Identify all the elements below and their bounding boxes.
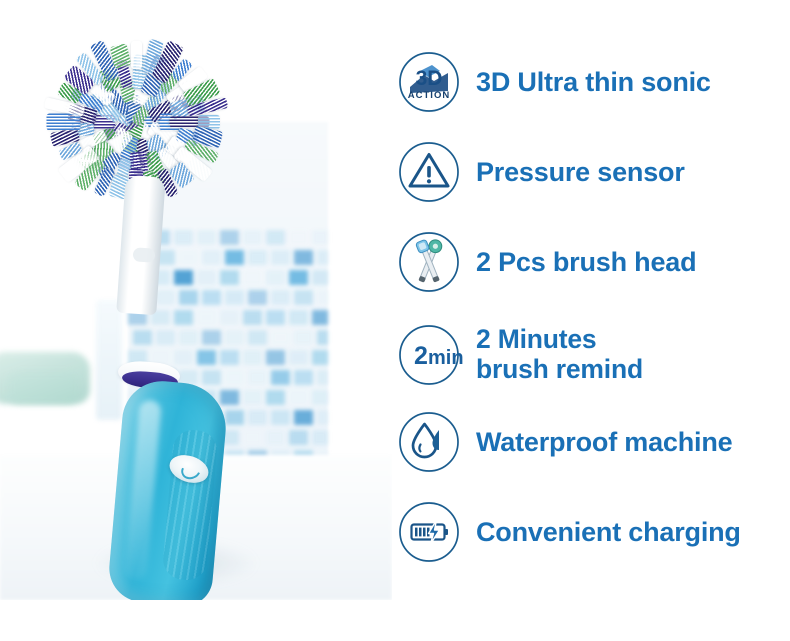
- mosaic-tile: [317, 330, 328, 345]
- mosaic-tile: [294, 370, 313, 385]
- mosaic-tile: [225, 410, 244, 425]
- mosaic-tile: [294, 250, 313, 265]
- mosaic-tile: [133, 330, 152, 345]
- feature-label: Convenient charging: [476, 518, 741, 547]
- feature-label: 3D Ultra thin sonic: [476, 68, 711, 97]
- mosaic-tile: [248, 330, 267, 345]
- mosaic-tile: [248, 290, 267, 305]
- mosaic-tile: [317, 370, 328, 385]
- two-minute-timer-icon: 2 min: [398, 324, 460, 386]
- mosaic-tile: [289, 230, 308, 245]
- mosaic-tile: [174, 270, 193, 285]
- mosaic-tile: [294, 290, 313, 305]
- feature-row-convenient-charging: Convenient charging: [398, 496, 790, 568]
- mosaic-tile: [197, 350, 216, 365]
- mosaic-tile: [312, 270, 328, 285]
- mosaic-tile: [289, 350, 308, 365]
- battery-charging-icon: [398, 501, 460, 563]
- feature-label: Waterproof machine: [476, 428, 732, 457]
- mosaic-tile: [271, 290, 290, 305]
- mosaic-tile: [248, 250, 267, 265]
- mosaic-tile: [289, 310, 308, 325]
- bristle-tuft: [46, 113, 80, 130]
- mosaic-tile: [271, 410, 290, 425]
- mosaic-tile: [174, 310, 193, 325]
- 3d-action-logo-top-text: 3D: [416, 67, 443, 90]
- mosaic-tile: [202, 330, 221, 345]
- mosaic-tile: [179, 290, 198, 305]
- product-photo: [0, 0, 392, 600]
- mosaic-tile: [266, 390, 285, 405]
- mosaic-tile: [156, 330, 175, 345]
- mosaic-tile: [243, 390, 262, 405]
- mosaic-tile: [289, 390, 308, 405]
- feature-row-pressure-sensor: Pressure sensor: [398, 136, 790, 208]
- mosaic-tile: [225, 250, 244, 265]
- mosaic-tile: [220, 270, 239, 285]
- mosaic-tile: [266, 430, 285, 445]
- mosaic-tile: [225, 370, 244, 385]
- product-feature-banner: 3D ACTION 3D Ultra thin sonic Pressure s…: [0, 0, 790, 641]
- mosaic-tile: [225, 330, 244, 345]
- mosaic-tile: [248, 410, 267, 425]
- mosaic-tile: [289, 430, 308, 445]
- mosaic-tile: [271, 330, 290, 345]
- mosaic-tile: [266, 270, 285, 285]
- mosaic-tile: [248, 370, 267, 385]
- mosaic-tile: [317, 410, 328, 425]
- feature-row-3d-ultra-thin-sonic: 3D ACTION 3D Ultra thin sonic: [398, 46, 790, 118]
- bristle-tuft: [131, 41, 142, 69]
- feature-row-brush-head-count: 2 Pcs brush head: [398, 226, 790, 298]
- mosaic-tile: [266, 230, 285, 245]
- mosaic-tile: [243, 230, 262, 245]
- mosaic-tile: [289, 270, 308, 285]
- mosaic-tile: [156, 290, 175, 305]
- mosaic-tile: [174, 350, 193, 365]
- mosaic-tile: [243, 270, 262, 285]
- mosaic-tile: [197, 310, 216, 325]
- mosaic-tile: [266, 310, 285, 325]
- mosaic-tile: [202, 370, 221, 385]
- mosaic-tile: [294, 330, 313, 345]
- mosaic-tile: [202, 250, 221, 265]
- mosaic-tile: [312, 390, 328, 405]
- mosaic-tile: [317, 290, 328, 305]
- feature-row-waterproof: Waterproof machine: [398, 406, 790, 478]
- mosaic-tile: [266, 350, 285, 365]
- crossed-brush-heads-icon: [398, 231, 460, 293]
- mosaic-tile: [243, 310, 262, 325]
- feature-label: 2 Pcs brush head: [476, 248, 696, 277]
- mosaic-tile: [220, 350, 239, 365]
- mosaic-tile: [243, 430, 262, 445]
- mosaic-tile: [312, 230, 328, 245]
- mosaic-tile: [220, 390, 239, 405]
- 3d-action-logo-icon: 3D ACTION: [398, 51, 460, 113]
- mosaic-tile: [312, 310, 328, 325]
- 3d-action-logo-bottom-text: ACTION: [408, 90, 450, 101]
- mosaic-tile: [174, 230, 193, 245]
- mosaic-tile: [271, 250, 290, 265]
- mosaic-tile: [294, 410, 313, 425]
- timer-unit-text: min: [428, 347, 464, 369]
- mosaic-tile: [312, 430, 328, 445]
- mosaic-tile: [179, 250, 198, 265]
- warning-triangle-icon: [398, 141, 460, 203]
- feature-list: 3D ACTION 3D Ultra thin sonic Pressure s…: [398, 24, 790, 584]
- feature-label: 2 Minutes brush remind: [476, 325, 643, 384]
- mosaic-tile: [220, 310, 239, 325]
- mosaic-tile: [202, 290, 221, 305]
- mosaic-tile: [243, 350, 262, 365]
- feature-row-two-minute-timer: 2 min 2 Minutes brush remind: [398, 312, 790, 398]
- mosaic-tile: [197, 270, 216, 285]
- mosaic-tile: [220, 230, 239, 245]
- feature-label: Pressure sensor: [476, 158, 685, 187]
- oral-b-brand-mark: [133, 247, 156, 263]
- mosaic-tile: [225, 290, 244, 305]
- mosaic-tile: [312, 350, 328, 365]
- timer-number-text: 2: [414, 342, 428, 370]
- background-bottle: [96, 300, 122, 420]
- mosaic-tile: [271, 370, 290, 385]
- mosaic-tile: [179, 330, 198, 345]
- water-droplet-icon: [398, 411, 460, 473]
- mosaic-tile: [317, 250, 328, 265]
- folded-towel-fold: [8, 372, 78, 404]
- mosaic-tile: [197, 230, 216, 245]
